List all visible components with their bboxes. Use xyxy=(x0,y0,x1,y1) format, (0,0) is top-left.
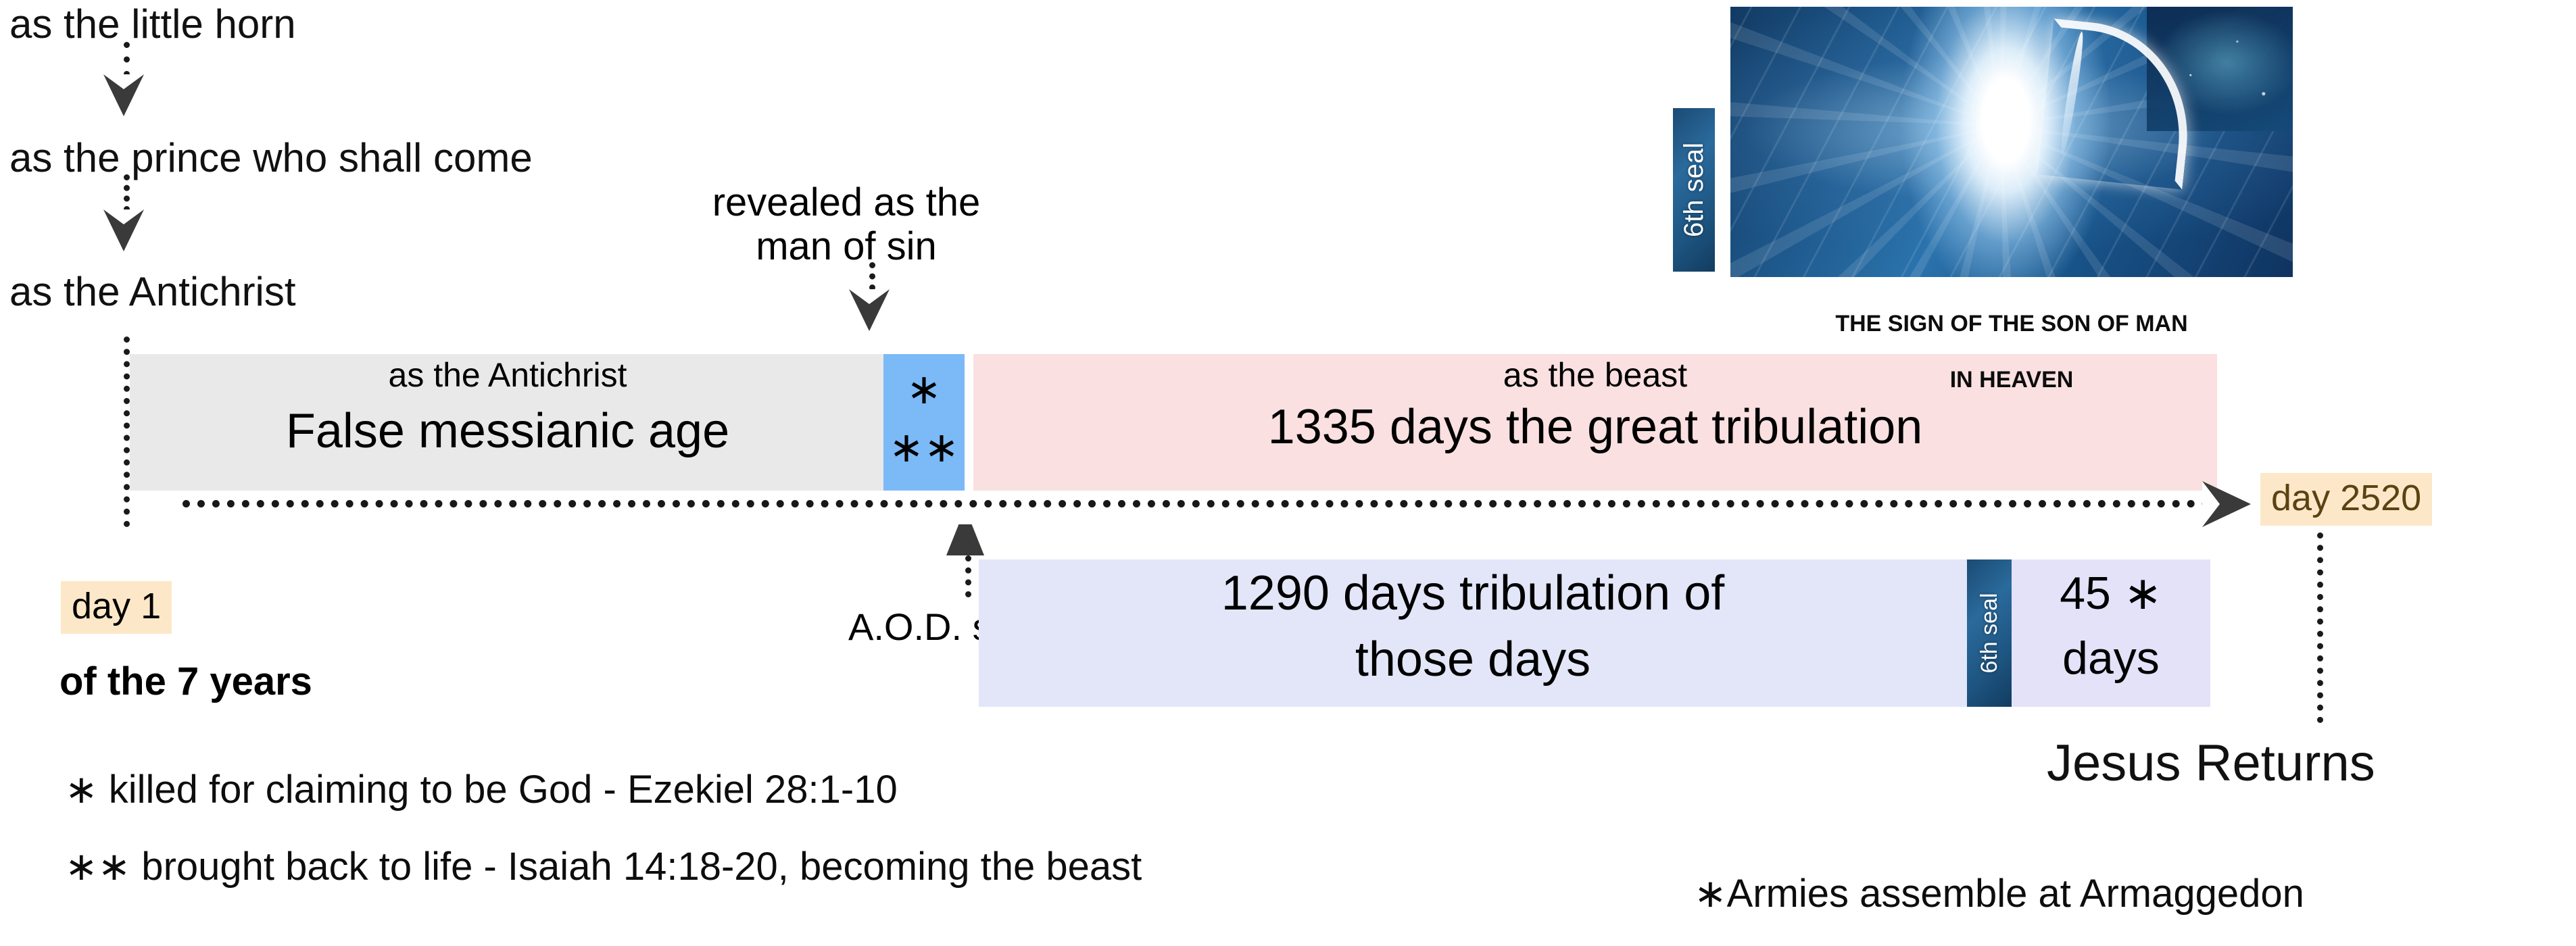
callout-line-2: man of sin xyxy=(671,225,1022,269)
aod-vertical-dotted-line xyxy=(965,555,971,597)
image-caption: THE SIGN OF THE SON OF MAN IN HEAVEN xyxy=(1730,282,2293,422)
label-prince: as the prince who shall come xyxy=(9,138,533,178)
seal-tab-label-picture: 6th seal xyxy=(1680,143,1707,237)
arrow-down-icon-2 xyxy=(103,209,144,251)
label-of-the-7-years: of the 7 years xyxy=(59,662,312,701)
bar-gray-top-label: as the Antichrist xyxy=(130,358,885,392)
timeline-dotted-axis xyxy=(183,500,2210,507)
day1-vertical-dotted-line xyxy=(124,337,130,527)
sign-of-son-of-man-image xyxy=(1730,7,2293,277)
dotted-connector-2 xyxy=(124,174,130,212)
callout-line-1: revealed as the xyxy=(671,181,1022,225)
footnote-single-asterisk: ∗ killed for claiming to be God - Ezekie… xyxy=(65,770,898,810)
seal-tab-6th-seal-picture: 6th seal xyxy=(1673,108,1715,272)
bar-lav-line-2: those days xyxy=(979,635,1967,684)
footnote-double-asterisk: ∗∗ brought back to life - Isaiah 14:18-2… xyxy=(65,847,1142,887)
chip-day-1: day 1 xyxy=(61,581,172,634)
dotted-connector-3 xyxy=(869,262,875,291)
label-little-horn: as the little horn xyxy=(9,4,296,45)
dotted-connector-1 xyxy=(124,42,130,77)
bar-1290-days-tribulation: 1290 days tribulation of those days xyxy=(979,559,1967,707)
asterisk-double-icon: ∗∗ xyxy=(883,427,965,469)
arrow-down-icon-1 xyxy=(103,74,144,116)
seal-tab-6th-seal-lower: 6th seal xyxy=(1967,559,2012,707)
bar-45-days: 45 ∗ days xyxy=(2012,559,2210,707)
bar-45days-line-1: 45 ∗ xyxy=(2012,570,2210,616)
asterisk-single-icon: ∗ xyxy=(883,369,965,411)
image-caption-line-1: THE SIGN OF THE SON OF MAN xyxy=(1730,310,2293,338)
arrow-up-icon-aod xyxy=(946,508,984,555)
bar-death-resurrection-marker: ∗ ∗∗ xyxy=(883,354,965,491)
bar-false-messianic-age: as the Antichrist False messianic age xyxy=(130,354,885,491)
chip-day-2520: day 2520 xyxy=(2260,473,2432,526)
image-caption-line-2: IN HEAVEN xyxy=(1730,366,2293,394)
bar-45days-line-2: days xyxy=(2012,635,2210,681)
day2520-vertical-dotted-line xyxy=(2317,532,2323,723)
bar-lav-line-1: 1290 days tribulation of xyxy=(979,569,1967,618)
label-antichrist: as the Antichrist xyxy=(9,272,296,312)
footnote-armageddon: ∗Armies assemble at Armaggedon xyxy=(1694,874,2304,914)
callout-revealed-as-man-of-sin: revealed as the man of sin xyxy=(671,181,1022,269)
label-jesus-returns: Jesus Returns xyxy=(2047,738,2375,789)
timeline-arrow-head-icon xyxy=(2202,481,2251,527)
arrow-down-icon-3 xyxy=(849,289,890,331)
bar-gray-main-label: False messianic age xyxy=(130,407,885,455)
seal-tab-label-lower: 6th seal xyxy=(1978,593,2001,673)
